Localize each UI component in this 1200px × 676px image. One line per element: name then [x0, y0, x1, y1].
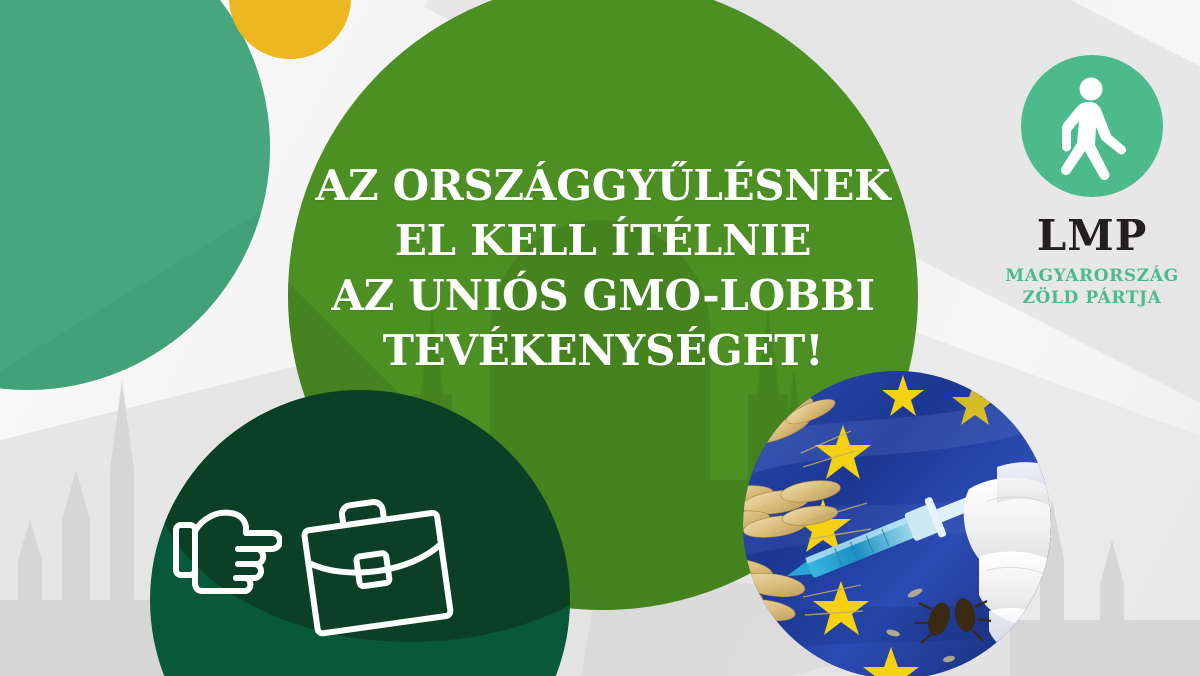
gmo-photo: [743, 371, 1051, 676]
walking-person-icon: [1021, 55, 1163, 197]
page-title: AZ ORSZÁGGYŰLÉSNEK EL KELL ÍTÉLNIE AZ UN…: [288, 158, 918, 378]
headline-line-4: TEVÉKENYSÉGET!: [288, 323, 918, 378]
briefcase-icon: [290, 485, 465, 655]
logo-tagline: MAGYARORSZÁG ZÖLD PÁRTJA: [1002, 265, 1182, 309]
headline-line-3: AZ UNIÓS GMO-LOBBI: [288, 268, 918, 323]
logo-wordmark: LMP: [1002, 215, 1182, 257]
lmp-logo: LMP MAGYARORSZÁG ZÖLD PÁRTJA: [1002, 55, 1182, 309]
headline-line-1: AZ ORSZÁGGYŰLÉSNEK: [288, 158, 918, 213]
gmo-photo-illustration: [743, 371, 1051, 676]
logo-tagline-line-1: MAGYARORSZÁG: [1002, 265, 1182, 287]
pointing-hand-icon: [172, 503, 282, 600]
campaign-poster: AZ ORSZÁGGYŰLÉSNEK EL KELL ÍTÉLNIE AZ UN…: [0, 0, 1200, 676]
logo-tagline-line-2: ZÖLD PÁRTJA: [1002, 287, 1182, 309]
icon-group: [172, 495, 462, 660]
headline-line-2: EL KELL ÍTÉLNIE: [288, 213, 918, 268]
